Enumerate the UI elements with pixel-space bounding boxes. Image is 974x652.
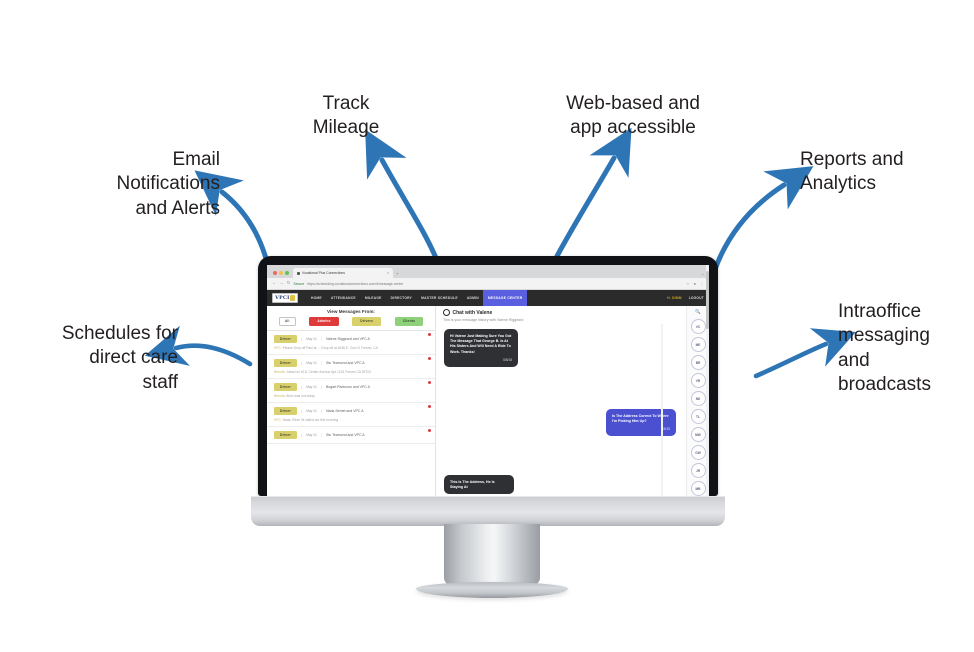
divider: | xyxy=(301,336,302,341)
avatar[interactable]: NK xyxy=(691,391,706,406)
url-input[interactable]: https://scheduling.vocationalconnections… xyxy=(307,282,403,286)
divider: | xyxy=(321,432,322,437)
bookmark-star-icon[interactable]: ☆ xyxy=(686,281,690,286)
url-bar-actions[interactable]: ☆ ● ⋮ xyxy=(686,281,704,286)
maximize-window-icon[interactable] xyxy=(285,271,289,275)
filter-clients[interactable]: Clients xyxy=(395,317,423,326)
messages-panel: View Messages From: All Admins Drivers C… xyxy=(267,306,436,496)
chat-panel: Chat with Valene This is your message hi… xyxy=(436,306,686,496)
chat-title: Chat with Valene xyxy=(453,310,493,316)
divider: | xyxy=(301,408,302,413)
monitor-screen: Vocational Plus Connections × + – ← → ↻ … xyxy=(267,265,709,496)
arrow-web-based xyxy=(556,158,614,258)
list-item[interactable]: Driver | May 11 | Nada Semet and VPC A V… xyxy=(267,403,435,427)
avatar[interactable]: VC xyxy=(691,319,706,334)
message-preview-tag: Brenda: xyxy=(274,394,286,398)
callout-intraoffice: Intraoffice messaging and broadcasts xyxy=(838,300,974,397)
chat-bubble-incoming: Hi Valene Just Making Sure You Got The M… xyxy=(444,329,518,367)
message-preview-text: Nada, Ether W called out this morning xyxy=(283,418,339,422)
contacts-rail[interactable]: 🔍 VC ME BR VR NK TL MW GW JR MB CB xyxy=(686,306,709,496)
imac-monitor: Vocational Plus Connections × + – ← → ↻ … xyxy=(258,256,725,526)
nav-item-admin[interactable]: ADMIN xyxy=(462,290,483,306)
avatar[interactable]: MB xyxy=(691,481,706,496)
nav-item-directory[interactable]: DIRECTORY xyxy=(386,290,416,306)
window-traffic-lights[interactable] xyxy=(273,271,289,275)
message-participants: Stu Teamond and VPC A xyxy=(326,433,365,437)
chat-bubble-text: Hi Valene Just Making Sure You Got The M… xyxy=(450,334,511,354)
divider: | xyxy=(301,360,302,365)
message-participants: Valene Riggeard and VPC A xyxy=(326,337,370,341)
new-tab-icon[interactable]: + xyxy=(396,271,398,276)
avatar[interactable]: TL xyxy=(691,409,706,424)
browser-nav-icons[interactable]: ← → ↻ xyxy=(272,281,290,285)
message-preview-tag: VPC: xyxy=(274,418,282,422)
profile-icon[interactable]: ● xyxy=(694,281,696,286)
rail-scrollbar-thumb[interactable] xyxy=(706,306,708,329)
arrow-track-mileage xyxy=(382,160,436,258)
chat-bubble-timestamp: 5/8/18 xyxy=(450,358,512,363)
callout-email-notifications: Email Notifications and Alerts xyxy=(52,148,220,221)
filter-drivers[interactable]: Drivers xyxy=(352,317,381,326)
nav-item-attendance[interactable]: ATTENDANCE xyxy=(326,290,360,306)
forward-icon[interactable]: → xyxy=(279,281,283,285)
chat-subtitle: This is your message history with Valene… xyxy=(443,318,679,322)
role-badge: Driver xyxy=(274,335,297,343)
arrow-schedules xyxy=(176,346,250,364)
monitor-chin xyxy=(251,496,725,526)
logout-button[interactable]: LOGOUT xyxy=(689,296,704,300)
browser-url-bar: ← → ↻ Secure https://scheduling.vocation… xyxy=(267,278,709,290)
message-date: May 11 xyxy=(306,409,317,413)
unread-indicator-icon xyxy=(428,405,432,409)
avatar[interactable]: ME xyxy=(691,337,706,352)
message-preview-text: Jabari w/ 4211 Center Avenue Apt 1234 Fr… xyxy=(286,370,370,374)
filter-admins[interactable]: Admins xyxy=(309,317,338,326)
message-date: May 11 xyxy=(306,337,317,341)
callout-reports-analytics: Reports and Analytics xyxy=(800,148,970,197)
search-icon[interactable]: 🔍 xyxy=(695,309,701,315)
favicon-icon xyxy=(297,272,300,275)
app-nav-right: H. DIMM LOGOUT xyxy=(667,296,704,300)
arrow-intraoffice xyxy=(756,344,826,376)
nav-item-mileage[interactable]: MILEAGE xyxy=(360,290,386,306)
current-user-label[interactable]: H. DIMM xyxy=(667,296,681,300)
message-filter-group: All Admins Drivers Clients xyxy=(267,317,435,330)
divider: | xyxy=(321,408,322,413)
avatar[interactable]: VR xyxy=(691,373,706,388)
message-preview: Brenda: Jabari w/ 4211 Center Avenue Apt… xyxy=(274,370,428,374)
unread-indicator-icon xyxy=(428,429,432,433)
chat-bubble-outgoing: Is The Address Correct To Where I'm Pick… xyxy=(606,409,676,437)
message-preview-text: Please Drop off Paul at - - Drop off at … xyxy=(283,346,378,350)
infographic-stage: Track Mileage Web-based and app accessib… xyxy=(0,0,974,652)
monitor-bezel: Vocational Plus Connections × + – ← → ↻ … xyxy=(258,256,718,496)
unread-indicator-icon xyxy=(428,357,432,361)
browser-tab-title: Vocational Plus Connections xyxy=(302,271,345,275)
role-badge: Driver xyxy=(274,431,297,439)
secure-lock-label: Secure xyxy=(293,282,304,286)
message-participants: Bogart Rivenzon and VPC A xyxy=(326,385,370,389)
divider: | xyxy=(321,336,322,341)
reload-icon[interactable]: ↻ xyxy=(287,281,291,285)
chat-header: Chat with Valene This is your message hi… xyxy=(436,306,686,325)
app-nav-items: HOME ATTENDANCE MILEAGE DIRECTORY MASTER… xyxy=(306,290,526,306)
monitor-stand-base xyxy=(416,582,568,598)
message-preview-tag: VPC: xyxy=(274,346,282,350)
list-item[interactable]: Driver | May 11 | Valene Riggeard and VP… xyxy=(267,331,435,355)
message-date: May 11 xyxy=(306,385,317,389)
back-icon[interactable]: ← xyxy=(272,281,276,285)
avatar[interactable]: MW xyxy=(691,427,706,442)
message-preview: Brenda: Alvin was out today xyxy=(274,394,428,398)
vpci-logo[interactable]: VPCI xyxy=(272,293,298,303)
message-participants: Stu Teamond and VPC A xyxy=(326,361,365,365)
list-item[interactable]: Driver | May 11 | Bogart Rivenzon and VP… xyxy=(267,379,435,403)
chat-bubble-icon xyxy=(443,309,450,316)
chat-bubble-incoming: This Is The Address, He Is Staying At xyxy=(444,475,514,495)
callout-schedules: Schedules for direct care staff xyxy=(18,322,178,395)
filter-all[interactable]: All xyxy=(279,317,296,326)
divider: | xyxy=(321,384,322,389)
chat-bubble-text: This Is The Address, He Is Staying At xyxy=(450,480,495,489)
app-body: View Messages From: All Admins Drivers C… xyxy=(267,306,709,496)
window-controls-icon[interactable]: – xyxy=(702,271,704,276)
unread-indicator-icon xyxy=(428,333,432,337)
message-preview: VPC: Nada, Ether W called out this morni… xyxy=(274,418,428,422)
browser-tab-active[interactable]: Vocational Plus Connections × xyxy=(293,268,393,278)
divider: | xyxy=(301,384,302,389)
logo-shield-icon xyxy=(290,295,295,301)
browser-tab-strip: Vocational Plus Connections × + – xyxy=(267,265,709,278)
nav-item-master-schedule[interactable]: MASTER SCHEDULE xyxy=(417,290,463,306)
browser-menu-icon[interactable]: ⋮ xyxy=(700,281,704,286)
avatar[interactable]: BR xyxy=(691,355,706,370)
message-date: May 11 xyxy=(306,433,317,437)
chat-title-row: Chat with Valene xyxy=(443,309,679,316)
messages-panel-heading: View Messages From: xyxy=(267,306,435,317)
message-preview: VPC: Please Drop off Paul at - - Drop of… xyxy=(274,346,428,350)
message-list[interactable]: Driver | May 11 | Valene Riggeard and VP… xyxy=(267,330,435,497)
minimize-window-icon[interactable] xyxy=(279,271,283,275)
message-preview-text: Alvin was out today xyxy=(286,394,314,398)
role-badge: Driver xyxy=(274,383,297,391)
chat-message-scroll[interactable]: Hi Valene Just Making Sure You Got The M… xyxy=(436,325,686,497)
avatar[interactable]: JR xyxy=(691,463,706,478)
logo-text: VPCI xyxy=(275,295,289,301)
avatar[interactable]: GW xyxy=(691,445,706,460)
divider: | xyxy=(301,432,302,437)
chat-scrollbar[interactable] xyxy=(661,324,664,496)
app-navbar: VPCI HOME ATTENDANCE MILEAGE DIRECTORY M… xyxy=(267,290,709,306)
role-badge: Driver xyxy=(274,359,297,367)
rail-scrollbar[interactable] xyxy=(706,306,709,496)
message-date: May 11 xyxy=(306,361,317,365)
close-window-icon[interactable] xyxy=(273,271,277,275)
callout-track-mileage: Track Mileage xyxy=(286,92,406,141)
unread-indicator-icon xyxy=(428,381,432,385)
role-badge: Driver xyxy=(274,407,297,415)
callout-web-based: Web-based and app accessible xyxy=(548,92,718,141)
nav-item-message-center[interactable]: MESSAGE CENTER xyxy=(483,290,526,306)
message-participants: Nada Semet and VPC A xyxy=(326,409,364,413)
message-preview-tag: Brenda: xyxy=(274,370,286,374)
list-item[interactable]: Driver | May 11 | Stu Teamond and VPC A xyxy=(267,427,435,444)
nav-item-home[interactable]: HOME xyxy=(306,290,326,306)
close-tab-icon[interactable]: × xyxy=(387,271,389,275)
divider: | xyxy=(321,360,322,365)
list-item[interactable]: Driver | May 11 | Stu Teamond and VPC A … xyxy=(267,355,435,379)
